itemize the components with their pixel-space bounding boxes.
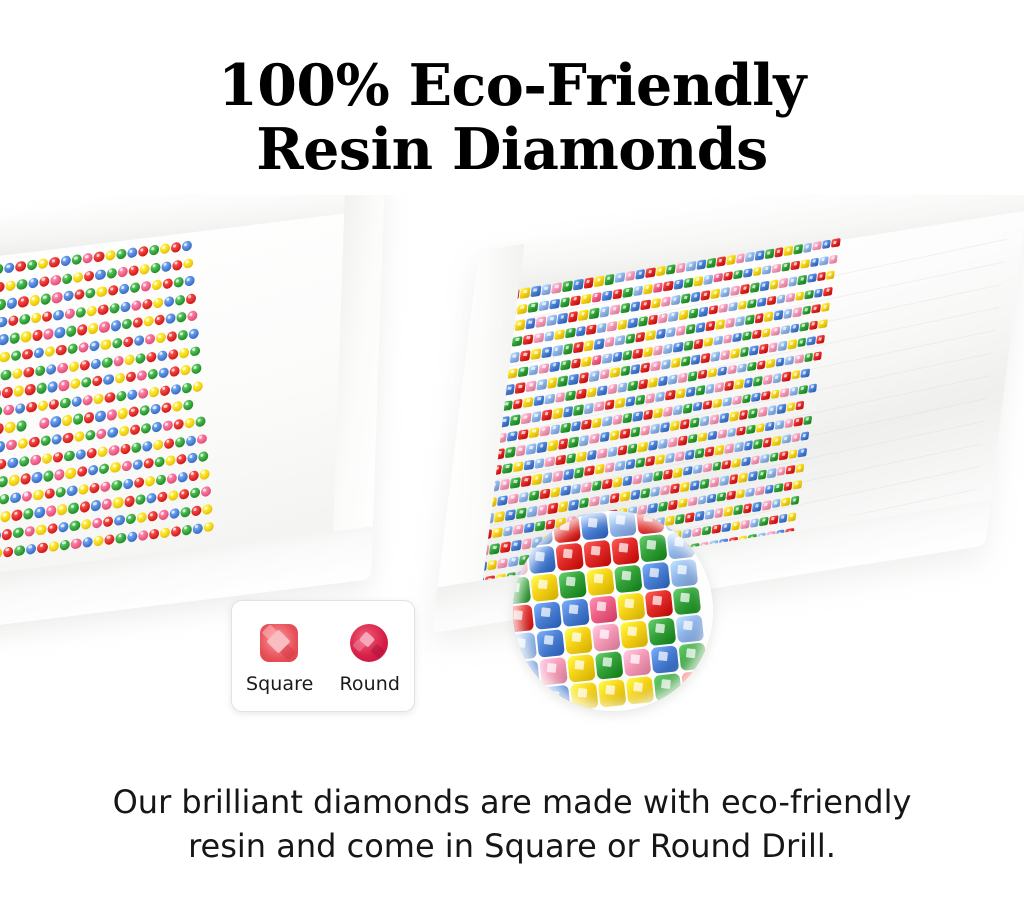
- drill-bead: [153, 439, 163, 450]
- drill-bead: [503, 525, 514, 537]
- drill-bead: [0, 351, 10, 363]
- drill-bead: [192, 381, 202, 392]
- drill-bead: [665, 390, 675, 401]
- drill-bead: [526, 443, 537, 455]
- drill-bead: [589, 433, 600, 444]
- drill-bead: [507, 430, 518, 442]
- drill-bead: [774, 247, 784, 257]
- drill-bead: [726, 490, 736, 500]
- drill-bead: [742, 331, 752, 341]
- drill-bead: [607, 383, 617, 394]
- drill-bead: [89, 340, 99, 352]
- drill-bead: [201, 486, 211, 497]
- drill-bead: [0, 264, 3, 276]
- drill-bead: [74, 289, 85, 301]
- drill-bead: [13, 527, 24, 539]
- drill-bead: [525, 318, 536, 330]
- drill-bead: [26, 543, 37, 555]
- drill-bead: [713, 335, 723, 346]
- drill-bead: [510, 477, 521, 489]
- drill-bead: [57, 504, 68, 516]
- drill-bead: [182, 382, 192, 393]
- drill-bead: [583, 540, 612, 569]
- square-diamond-gem-icon: [260, 624, 300, 664]
- drill-bead: [182, 524, 192, 535]
- drill-bead: [612, 477, 622, 488]
- drill-bead: [695, 448, 705, 459]
- drill-bead: [517, 366, 528, 378]
- drill-bead: [705, 384, 715, 395]
- drill-bead: [794, 354, 803, 364]
- drill-bead: [22, 349, 33, 361]
- drill-bead: [617, 382, 627, 393]
- drill-bead: [718, 366, 728, 377]
- drill-bead: [673, 341, 683, 352]
- drill-bead: [179, 347, 189, 358]
- drill-bead: [568, 374, 579, 385]
- drill-bead: [748, 471, 758, 481]
- drill-bead: [51, 416, 62, 428]
- drill-shape-legend[interactable]: Square Round: [231, 600, 415, 712]
- drill-bead: [542, 409, 553, 421]
- drill-bead: [722, 396, 732, 406]
- drill-bead: [628, 317, 638, 328]
- drill-bead: [713, 272, 723, 283]
- drill-bead: [732, 395, 742, 405]
- drill-bead: [36, 382, 47, 394]
- drill-bead: [791, 260, 801, 270]
- drill-bead: [683, 403, 693, 414]
- drill-bead: [172, 401, 182, 412]
- drill-bead: [586, 386, 597, 397]
- drill-bead: [633, 348, 643, 359]
- drill-bead: [20, 473, 31, 485]
- drill-bead: [755, 485, 765, 495]
- drill-bead: [184, 276, 194, 287]
- drill-bead: [607, 446, 617, 457]
- drill-bead: [728, 301, 738, 312]
- drill-bead: [9, 332, 20, 344]
- drill-bead: [558, 571, 587, 600]
- drill-bead: [656, 266, 666, 277]
- drill-bead: [168, 348, 178, 359]
- drill-bead: [795, 401, 804, 411]
- drill-bead: [759, 281, 769, 291]
- drill-bead: [85, 430, 96, 442]
- drill-bead: [553, 470, 564, 481]
- drill-bead: [708, 367, 718, 378]
- drill-bead: [145, 475, 155, 486]
- drill-bead: [740, 519, 750, 529]
- drill-bead: [141, 423, 151, 434]
- drill-bead: [612, 414, 622, 425]
- drill-bead: [813, 351, 822, 361]
- drill-bead: [100, 481, 110, 493]
- caption-line-2: resin and come in Square or Round Drill.: [0, 824, 1024, 868]
- drill-bead: [592, 480, 602, 491]
- drill-bead: [138, 388, 148, 399]
- drill-bead: [640, 425, 650, 436]
- drill-bead: [615, 335, 625, 346]
- drill-bead: [139, 405, 149, 416]
- drill-bead: [56, 486, 67, 498]
- drill-bead: [63, 432, 74, 444]
- drill-bead: [35, 365, 46, 377]
- drill-bead: [542, 685, 571, 711]
- drill-bead: [565, 390, 576, 401]
- drill-bead: [668, 436, 678, 447]
- drill-bead: [531, 474, 542, 486]
- drill-bead: [51, 434, 62, 446]
- drill-bead: [12, 368, 23, 380]
- drill-bead: [739, 410, 749, 420]
- drill-bead: [183, 400, 193, 411]
- drill-bead: [650, 361, 660, 372]
- drill-bead: [721, 287, 731, 298]
- drill-bead: [128, 406, 138, 417]
- drill-bead: [732, 332, 742, 342]
- drill-bead: [653, 407, 663, 418]
- drill-bead: [187, 311, 197, 322]
- drill-bead: [171, 384, 181, 395]
- drill-bead: [598, 679, 627, 708]
- drill-bead: [589, 595, 618, 624]
- drill-bead: [199, 469, 209, 480]
- drill-bead: [105, 250, 115, 261]
- drill-bead: [772, 436, 782, 446]
- drill-bead: [733, 505, 743, 515]
- drill-bead: [790, 323, 800, 333]
- drill-bead: [536, 629, 565, 658]
- drill-bead: [146, 351, 156, 362]
- drill-bead: [545, 456, 556, 467]
- drill-bead: [182, 240, 192, 251]
- drill-bead: [539, 363, 550, 375]
- drill-bead: [544, 330, 555, 342]
- drill-bead: [688, 370, 698, 381]
- drill-bead: [831, 238, 840, 248]
- legend-item-square[interactable]: Square: [246, 624, 314, 695]
- drill-bead: [799, 322, 808, 332]
- drill-bead: [747, 298, 757, 308]
- drill-bead: [597, 448, 607, 459]
- drill-bead: [7, 457, 18, 469]
- drill-bead: [599, 369, 610, 380]
- drill-bead: [31, 312, 42, 324]
- drill-bead: [584, 340, 595, 351]
- drill-bead: [0, 530, 1, 542]
- drill-bead: [700, 416, 710, 427]
- drill-bead: [58, 521, 69, 533]
- drill-bead: [748, 408, 758, 418]
- drill-bead: [552, 408, 563, 419]
- drill-bead: [740, 284, 750, 294]
- drill-bead: [788, 449, 797, 459]
- drill-bead: [93, 535, 104, 547]
- drill-bead: [163, 278, 173, 289]
- product-caption: Our brilliant diamonds are made with eco…: [0, 780, 1024, 868]
- drill-bead: [586, 568, 615, 597]
- drill-bead: [743, 503, 753, 513]
- drill-bead: [759, 344, 769, 354]
- drill-bead: [529, 427, 540, 439]
- drill-bead: [40, 435, 51, 447]
- drill-bead: [169, 366, 179, 377]
- drill-bead: [800, 368, 809, 378]
- drill-bead: [531, 348, 542, 360]
- drill-bead: [152, 421, 162, 432]
- drill-bead: [779, 450, 788, 460]
- drill-bead: [639, 534, 668, 563]
- drill-bead: [114, 515, 124, 527]
- drill-bead: [15, 261, 26, 273]
- drill-bead: [643, 409, 653, 420]
- drill-bead: [42, 453, 53, 465]
- drill-bead: [98, 446, 108, 458]
- drill-bead: [693, 338, 703, 349]
- drill-bead: [782, 371, 791, 381]
- drill-bead: [534, 458, 545, 470]
- drill-bead: [658, 375, 668, 386]
- drill-bead: [604, 399, 614, 410]
- drill-bead: [653, 345, 663, 356]
- drill-bead: [38, 258, 49, 270]
- drill-bead: [0, 281, 5, 293]
- drill-bead: [22, 490, 33, 502]
- drill-bead: [705, 446, 715, 457]
- drill-bead: [670, 559, 699, 588]
- drill-bead: [83, 252, 93, 264]
- drill-bead: [119, 425, 129, 436]
- drill-bead: [787, 339, 797, 349]
- drill-bead: [769, 279, 779, 289]
- drill-bead: [673, 467, 683, 478]
- drill-bead: [99, 321, 109, 333]
- drill-bead: [620, 428, 630, 439]
- drill-bead: [143, 458, 153, 469]
- drill-bead: [116, 532, 126, 544]
- drill-bead: [500, 541, 511, 553]
- drill-bead: [537, 441, 548, 453]
- drill-bead: [77, 466, 88, 478]
- drill-bead: [757, 297, 767, 307]
- drill-bead: [105, 392, 115, 404]
- legend-item-round[interactable]: Round: [339, 624, 400, 695]
- drill-bead: [676, 325, 686, 336]
- drill-bead: [727, 364, 737, 374]
- headline-line-2: Resin Diamonds: [0, 118, 1024, 182]
- drill-bead: [675, 451, 685, 462]
- drill-bead: [530, 573, 559, 602]
- drill-bead: [18, 296, 29, 308]
- drill-bead: [666, 264, 676, 275]
- drill-bead: [138, 529, 148, 540]
- drill-bead: [744, 440, 754, 450]
- drill-bead: [134, 477, 144, 488]
- drill-bead: [765, 421, 775, 431]
- drill-bead: [785, 355, 795, 365]
- drill-bead: [615, 398, 625, 409]
- drill-bead: [808, 383, 817, 393]
- drill-bead: [806, 336, 815, 346]
- drill-bead: [173, 277, 183, 288]
- drill-bead: [635, 269, 645, 280]
- drill-bead: [693, 401, 703, 412]
- drill-bead: [584, 465, 595, 476]
- drill-bead: [62, 415, 73, 427]
- drill-bead: [752, 266, 762, 276]
- drill-bead: [88, 323, 98, 335]
- drill-bead: [648, 440, 658, 451]
- drill-bead: [550, 486, 561, 497]
- drill-bead: [786, 465, 795, 475]
- drill-bead: [622, 412, 632, 423]
- drill-bead: [678, 372, 688, 383]
- drill-bead: [487, 559, 498, 571]
- drill-bead: [775, 357, 785, 367]
- drill-bead: [620, 620, 649, 649]
- drill-bead: [651, 645, 680, 674]
- drill-bead: [67, 343, 78, 355]
- drill-bead: [528, 364, 539, 376]
- drill-bead: [651, 298, 661, 309]
- drill-bead: [789, 386, 798, 396]
- drill-bead: [752, 329, 762, 339]
- drill-bead: [800, 259, 810, 269]
- drill-bead: [528, 546, 557, 575]
- drill-bead: [648, 314, 658, 325]
- drill-bead: [564, 626, 593, 655]
- drill-bead: [522, 334, 533, 346]
- drill-bead: [541, 346, 552, 358]
- drill-bead: [87, 305, 97, 317]
- drill-bead: [4, 262, 15, 274]
- drill-bead: [29, 436, 40, 448]
- drill-bead: [0, 547, 2, 559]
- drill-bead: [793, 480, 802, 490]
- drill-bead: [195, 416, 205, 427]
- drill-bead: [67, 485, 78, 497]
- drill-bead: [513, 549, 528, 578]
- drill-bead: [706, 321, 716, 332]
- drill-bead: [567, 654, 596, 683]
- drill-bead: [781, 262, 791, 272]
- drill-bead: [128, 265, 138, 276]
- drill-bead: [774, 483, 783, 493]
- drill-bead: [581, 419, 592, 430]
- drill-bead: [697, 495, 707, 506]
- drill-bead: [676, 614, 705, 643]
- drill-bead: [92, 375, 102, 387]
- drill-bead: [186, 435, 196, 446]
- drill-bead: [663, 406, 673, 417]
- drill-bead: [124, 354, 134, 365]
- drill-bead: [640, 300, 650, 311]
- drill-bead: [655, 391, 665, 402]
- drill-bead: [791, 433, 800, 443]
- drill-bead: [760, 453, 770, 463]
- drill-bead: [568, 436, 579, 447]
- drill-bead: [599, 432, 609, 443]
- drill-bead: [13, 385, 24, 397]
- drill-bead: [538, 300, 549, 312]
- drill-bead: [828, 254, 837, 264]
- drill-bead: [36, 524, 47, 536]
- drill-bead: [648, 377, 658, 388]
- drill-bead: [70, 520, 81, 532]
- drill-bead: [698, 432, 708, 443]
- drill-bead: [816, 335, 825, 345]
- drill-bead: [658, 501, 668, 512]
- drill-bead: [94, 393, 104, 405]
- drill-bead: [97, 286, 107, 298]
- drill-bead: [581, 356, 592, 367]
- drill-bead: [76, 307, 87, 319]
- drill-bead: [597, 385, 608, 396]
- drill-bead: [160, 527, 170, 538]
- drill-bead: [101, 339, 111, 351]
- drill-bead: [758, 469, 768, 479]
- drill-bead: [43, 470, 54, 482]
- drill-bead: [66, 325, 77, 337]
- drill-bead: [64, 308, 75, 320]
- drill-bead: [766, 358, 776, 368]
- drill-bead: [526, 380, 537, 392]
- drill-bead: [46, 505, 57, 517]
- drill-bead: [605, 462, 615, 473]
- drill-bead: [696, 259, 706, 270]
- drill-bead: [670, 420, 680, 431]
- drill-bead: [675, 388, 685, 399]
- drill-bead: [643, 346, 653, 357]
- drill-bead: [597, 322, 608, 333]
- drill-bead: [635, 395, 645, 406]
- drill-bead: [645, 330, 655, 341]
- drill-bead: [103, 374, 113, 386]
- drill-bead: [552, 345, 563, 357]
- drill-bead: [65, 467, 76, 479]
- drill-bead: [60, 397, 71, 409]
- drill-bead: [49, 257, 60, 269]
- drill-bead: [165, 313, 175, 324]
- drill-bead: [658, 312, 668, 323]
- drill-bead: [142, 298, 152, 309]
- drill-bead: [39, 417, 50, 429]
- drill-bead: [571, 483, 582, 494]
- drill-bead: [774, 310, 784, 320]
- drill-bead: [60, 255, 71, 267]
- drill-bead: [64, 450, 75, 462]
- drill-bead: [626, 676, 655, 705]
- zoom-detail-circle: [513, 511, 713, 711]
- drill-bead: [805, 289, 814, 299]
- drill-bead: [146, 493, 156, 504]
- drill-bead: [120, 301, 130, 312]
- drill-bead: [536, 379, 547, 391]
- drill-bead: [142, 440, 152, 451]
- drill-bead: [709, 477, 719, 487]
- drill-bead: [71, 538, 82, 550]
- drill-bead: [755, 250, 765, 260]
- drill-bead: [604, 337, 615, 348]
- drill-bead: [515, 382, 526, 394]
- drill-bead: [610, 367, 620, 378]
- drill-bead: [663, 280, 673, 291]
- drill-bead: [79, 501, 90, 513]
- drill-bead: [53, 451, 64, 463]
- drill-bead: [12, 509, 23, 521]
- drill-bead: [614, 565, 643, 594]
